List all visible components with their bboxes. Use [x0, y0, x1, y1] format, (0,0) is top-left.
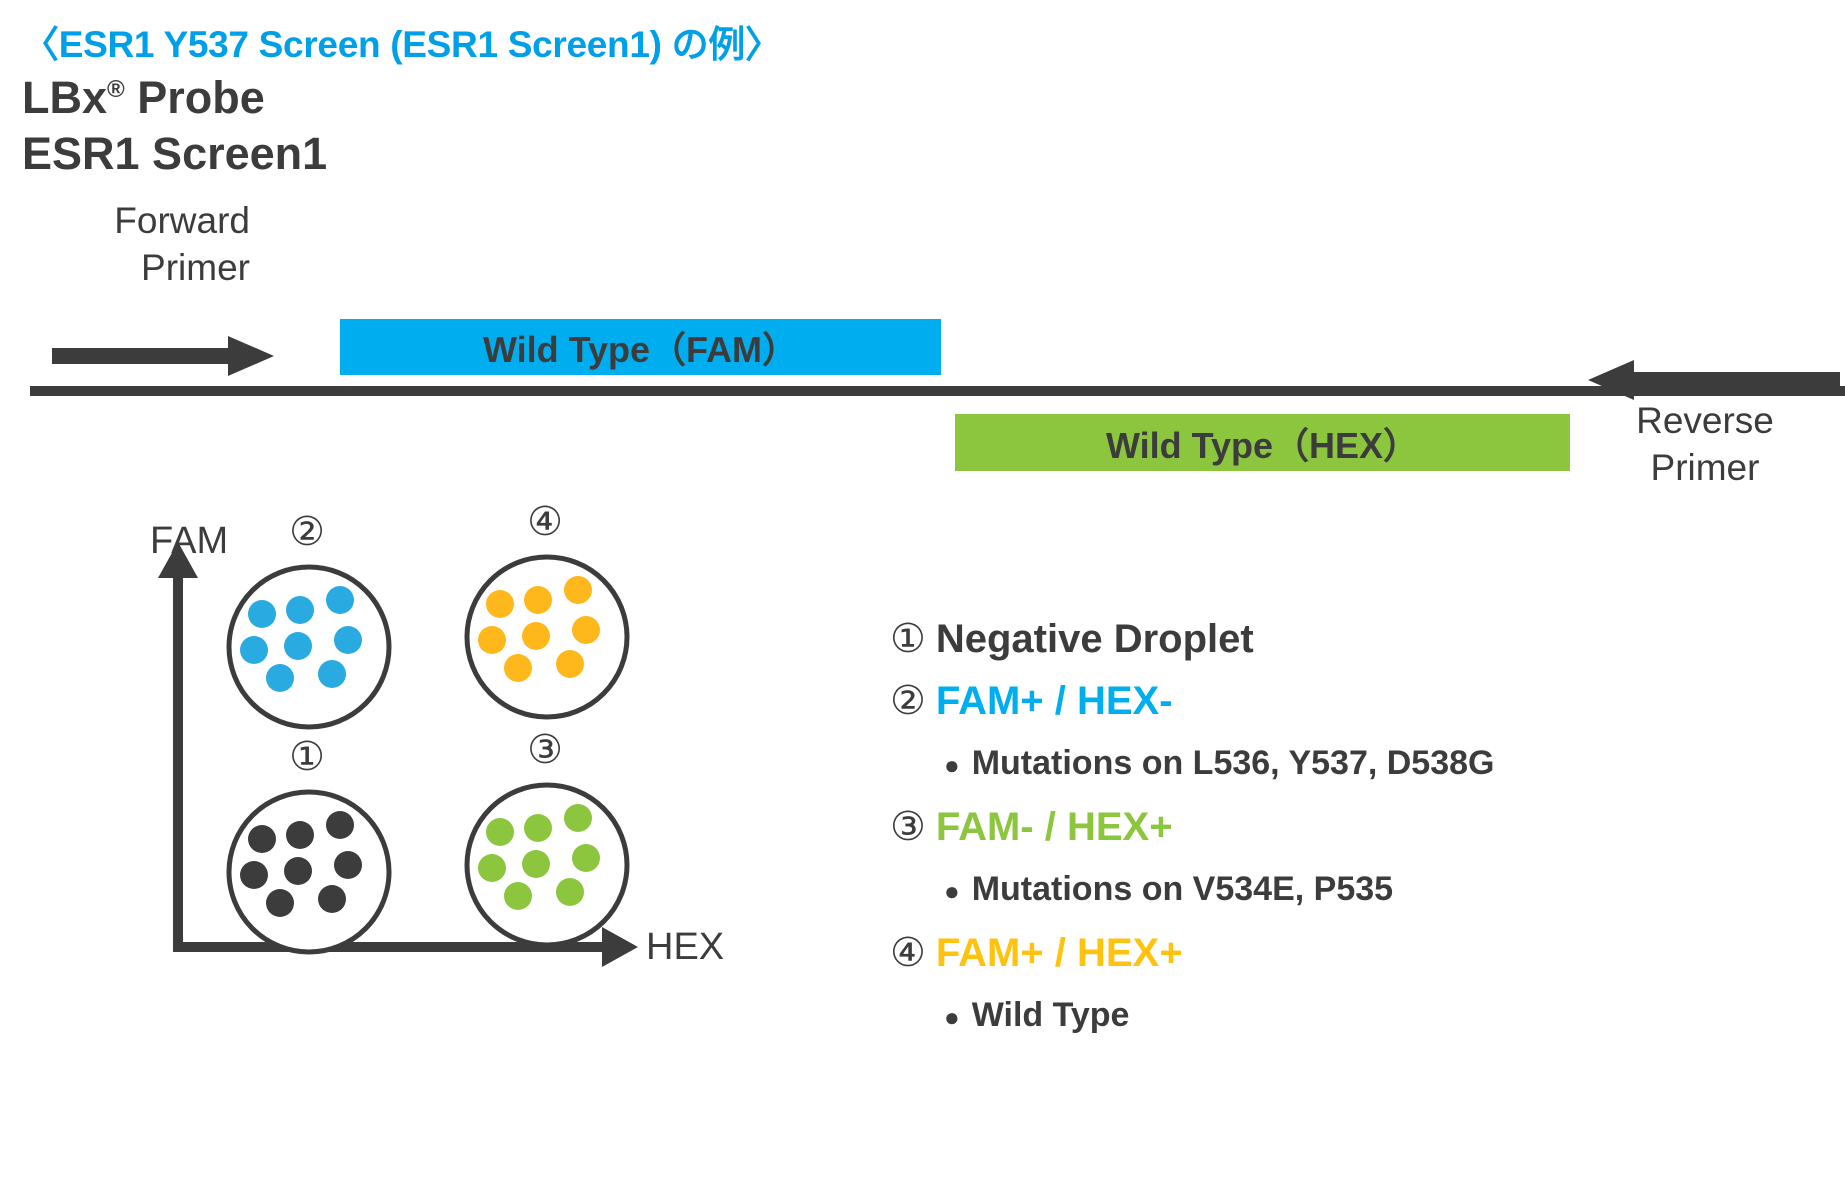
- forward-primer-arrow-icon: [52, 333, 274, 379]
- legend-item-3-marker: ③: [890, 796, 926, 858]
- registered-trademark-symbol: ®: [107, 76, 125, 103]
- legend-item-1-marker: ①: [890, 608, 926, 670]
- legend-item-2-sub: ● Mutations on L536, Y537, D538G: [890, 732, 1820, 796]
- legend-item-4: ④ FAM+ / HEX+ ● Wild Type: [890, 922, 1820, 1048]
- forward-primer-label-line1: Forward: [30, 197, 250, 244]
- assay-name-line: ESR1 Screen1: [22, 126, 327, 182]
- legend-item-2-label: FAM+ / HEX-: [936, 670, 1173, 732]
- hex-probe-bar: Wild Type（HEX）: [955, 414, 1570, 471]
- product-name-line: LBx® Probe: [22, 70, 327, 126]
- bullet-icon: ●: [944, 860, 960, 922]
- droplet-legend: ① Negative Droplet ② FAM+ / HEX- ● Mutat…: [890, 608, 1820, 1048]
- legend-item-4-sub: ● Wild Type: [890, 984, 1820, 1048]
- droplet-cluster-3-marker: ③: [527, 728, 563, 772]
- fam-probe-bar: Wild Type（FAM）: [340, 319, 941, 375]
- page-title: LBx® Probe ESR1 Screen1: [22, 70, 327, 182]
- slide-canvas: 〈ESR1 Y537 Screen (ESR1 Screen1) の例〉 LBx…: [0, 0, 1845, 1181]
- legend-item-2-head: ② FAM+ / HEX-: [890, 670, 1820, 732]
- fam-probe-bar-label: Wild Type（FAM）: [483, 321, 798, 373]
- droplet-cluster-4-circle: [462, 552, 632, 722]
- forward-primer-label: Forward Primer: [30, 197, 250, 291]
- droplet-cluster-2-marker: ②: [289, 510, 325, 554]
- bullet-icon: ●: [944, 986, 960, 1048]
- droplet-cluster-4-marker: ④: [527, 500, 563, 544]
- legend-item-3-label: FAM- / HEX+: [936, 796, 1173, 858]
- legend-item-4-head: ④ FAM+ / HEX+: [890, 922, 1820, 984]
- reverse-primer-label-line1: Reverse: [1580, 397, 1830, 444]
- legend-item-1: ① Negative Droplet: [890, 608, 1820, 670]
- reverse-primer-label: Reverse Primer: [1580, 397, 1830, 491]
- legend-item-2: ② FAM+ / HEX- ● Mutations on L536, Y537,…: [890, 670, 1820, 796]
- droplet-cluster-2-circle: [224, 562, 394, 732]
- legend-item-3-sub: ● Mutations on V534E, P535: [890, 858, 1820, 922]
- forward-primer-label-line2: Primer: [30, 244, 250, 291]
- product-name-prefix: LBx: [22, 72, 107, 123]
- droplet-cluster-3-circle: [462, 780, 632, 950]
- droplet-cluster-plot: FAM HEX ②: [150, 520, 790, 1140]
- legend-item-2-sub-text: Mutations on L536, Y537, D538G: [972, 732, 1495, 794]
- legend-item-1-head: ① Negative Droplet: [890, 608, 1820, 670]
- legend-item-1-label: Negative Droplet: [936, 608, 1254, 670]
- bullet-icon: ●: [944, 734, 960, 796]
- legend-item-3: ③ FAM- / HEX+ ● Mutations on V534E, P535: [890, 796, 1820, 922]
- reverse-primer-label-line2: Primer: [1580, 444, 1830, 491]
- legend-item-3-head: ③ FAM- / HEX+: [890, 796, 1820, 858]
- legend-item-4-sub-text: Wild Type: [972, 984, 1130, 1046]
- product-name-suffix: Probe: [125, 72, 265, 123]
- droplet-cluster-1-marker: ①: [289, 735, 325, 779]
- hex-probe-bar-label: Wild Type（HEX）: [1106, 417, 1419, 469]
- droplet-cluster-1-circle: [224, 787, 394, 957]
- legend-item-2-marker: ②: [890, 670, 926, 732]
- legend-item-4-marker: ④: [890, 922, 926, 984]
- legend-item-3-sub-text: Mutations on V534E, P535: [972, 858, 1393, 920]
- legend-item-4-label: FAM+ / HEX+: [936, 922, 1183, 984]
- example-eyebrow-heading: 〈ESR1 Y537 Screen (ESR1 Screen1) の例〉: [22, 14, 782, 68]
- dna-template-strand: [30, 386, 1845, 396]
